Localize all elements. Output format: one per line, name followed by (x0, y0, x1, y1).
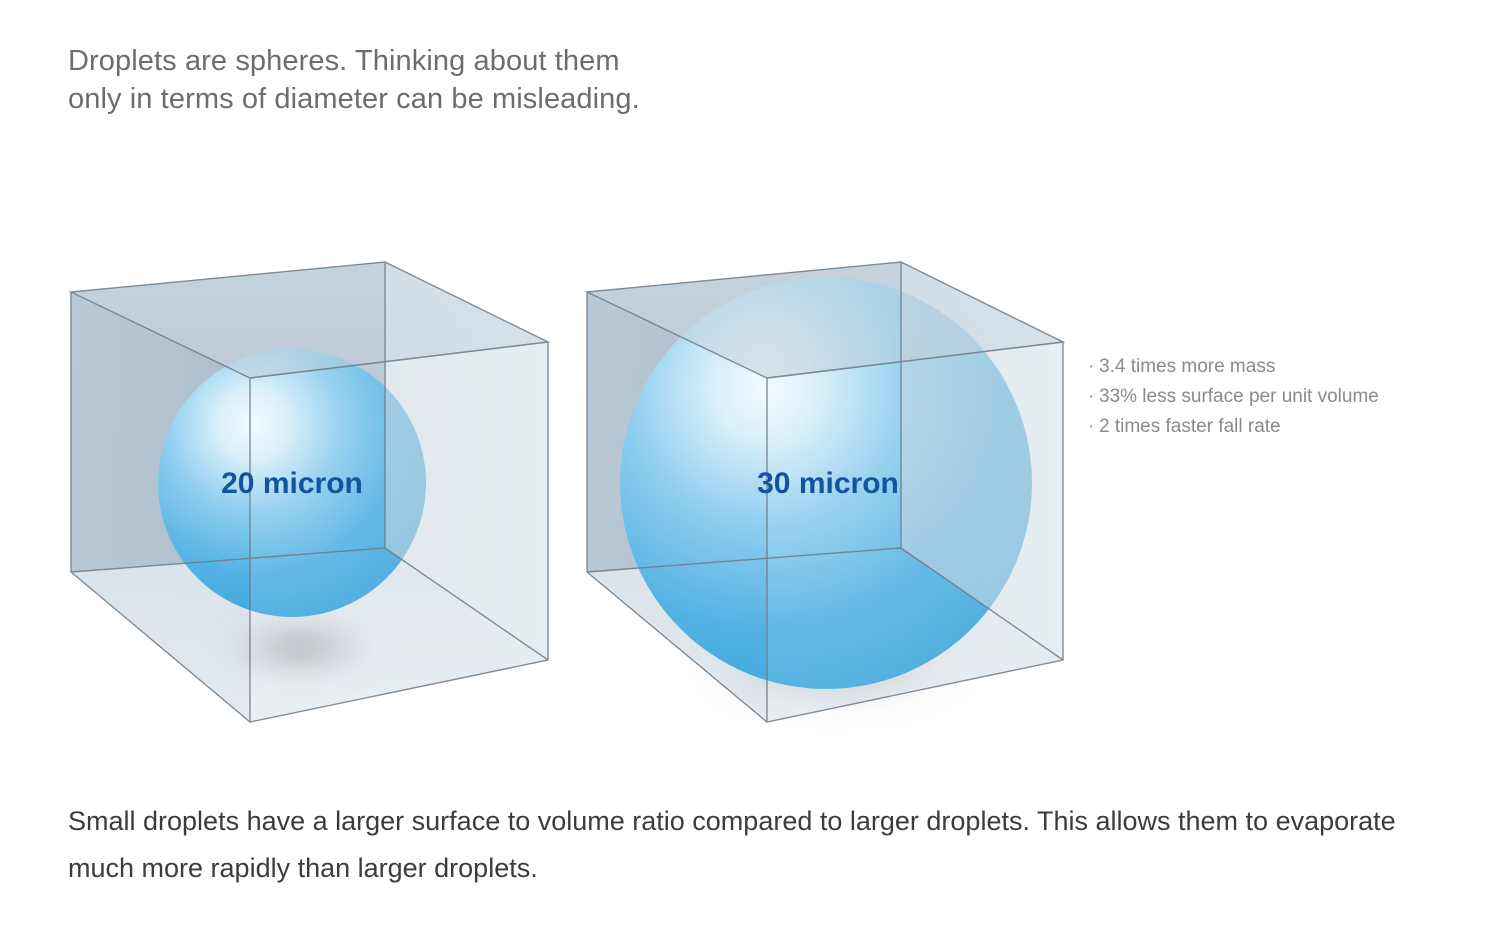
list-item: · 2 times faster fall rate (1088, 412, 1468, 442)
sphere-label-20-micron: 20 micron (221, 467, 363, 500)
sphere-label-30-micron: 30 micron (757, 467, 899, 500)
cube-20-micron: 20 micron (71, 262, 548, 722)
caption-text: Small droplets have a larger surface to … (68, 798, 1448, 892)
list-item-label: 33% less surface per unit volume (1099, 382, 1379, 412)
list-item: · 33% less surface per unit volume (1088, 382, 1468, 412)
bullet-icon: · (1088, 382, 1099, 412)
slide-canvas: Droplets are spheres. Thinking about the… (0, 0, 1500, 940)
bullet-icon: · (1088, 412, 1099, 442)
cube-front-glass (767, 342, 1063, 722)
bullet-icon: · (1088, 352, 1099, 382)
list-item: · 3.4 times more mass (1088, 352, 1468, 382)
list-item-label: 2 times faster fall rate (1099, 412, 1281, 442)
cube-30-micron: 30 micron (587, 262, 1063, 722)
list-item-label: 3.4 times more mass (1099, 352, 1275, 382)
cube-front-glass (250, 342, 548, 722)
facts-list: · 3.4 times more mass · 33% less surface… (1088, 352, 1468, 442)
